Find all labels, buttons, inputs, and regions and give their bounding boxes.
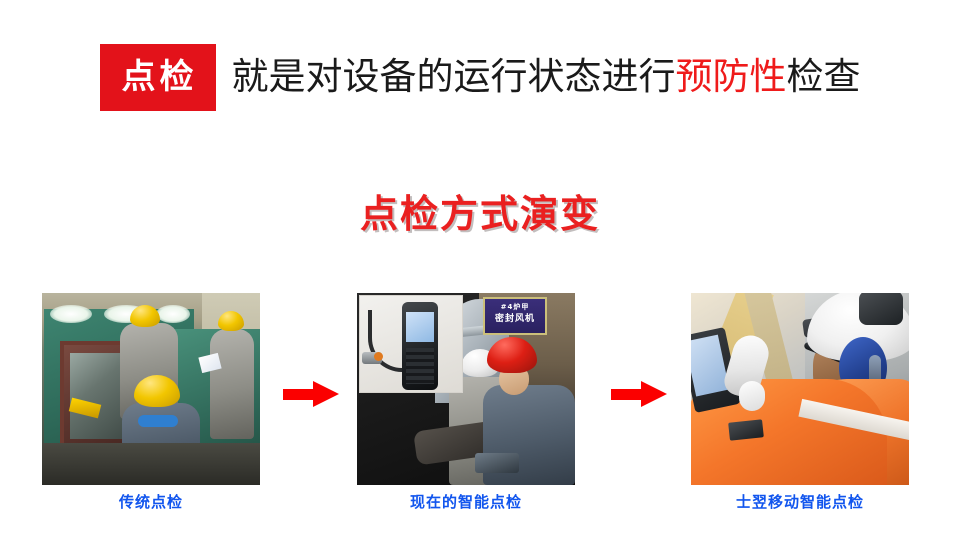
flow-step-2: #4炉甲 密封风机 bbox=[357, 293, 575, 485]
arrow2-shaft bbox=[611, 389, 644, 400]
photo1-lamp-left bbox=[50, 305, 92, 323]
photo1-lamp-right bbox=[156, 305, 190, 323]
arrow1-shaft bbox=[283, 389, 316, 400]
section-subtitle: 点检方式演变 bbox=[0, 193, 960, 237]
photo3-helmet-mount bbox=[859, 293, 903, 325]
arrow-right-icon-2 bbox=[611, 381, 667, 407]
photo3-tablet-screen bbox=[691, 335, 729, 397]
headline-text-before: 就是对设备的运行状态进行 bbox=[232, 55, 676, 98]
photo2-sign-line-2: 密封风机 bbox=[485, 313, 545, 327]
flow-step-1: 传统点检 bbox=[42, 293, 260, 485]
photo2-pda-inset bbox=[359, 295, 463, 393]
photo3-white-glove-second bbox=[739, 381, 765, 411]
photo-pda-inspection: #4炉甲 密封风机 bbox=[357, 293, 575, 485]
photo-mobile-smart-inspection bbox=[691, 293, 909, 485]
caption-step-3: 士翌移动智能点检 bbox=[691, 491, 909, 512]
photo3-chest-badge bbox=[728, 419, 764, 440]
photo2-sign-line-1: #4炉甲 bbox=[485, 302, 545, 313]
photo2-pda-keypad bbox=[406, 348, 434, 384]
photo2-pda-device bbox=[402, 302, 438, 390]
headline-badge: 点检 bbox=[100, 44, 216, 111]
photo1-worker2-collar bbox=[138, 415, 178, 427]
arrow2-head bbox=[641, 381, 667, 407]
caption-step-2: 现在的智能点检 bbox=[357, 491, 575, 512]
flow-step-3: 士翌移动智能点检 bbox=[691, 293, 909, 485]
photo1-worker3-yellow-helmet-icon bbox=[218, 311, 244, 331]
page-title: 就是对设备的运行状态进行预防性检查 bbox=[232, 57, 861, 98]
headline-text-accent: 预防性 bbox=[676, 55, 787, 98]
slide-root: 点检 就是对设备的运行状态进行预防性检查 点检方式演变 bbox=[0, 0, 960, 533]
photo2-equipment-sign: #4炉甲 密封风机 bbox=[483, 297, 547, 335]
photo-traditional-inspection bbox=[42, 293, 260, 485]
caption-step-1: 传统点检 bbox=[42, 491, 260, 512]
photo2-pda-navpad bbox=[374, 352, 383, 361]
headline: 点检 就是对设备的运行状态进行预防性检查 bbox=[0, 44, 960, 111]
evolution-flow: 传统点检 #4炉甲 密封风机 bbox=[0, 293, 960, 493]
headline-text-after: 检查 bbox=[787, 55, 861, 98]
photo1-floor bbox=[42, 443, 260, 485]
photo2-handheld-terminal bbox=[475, 453, 519, 473]
arrow-right-icon-1 bbox=[283, 381, 339, 407]
photo1-worker3-body bbox=[210, 329, 254, 439]
photo2-pda-screen bbox=[406, 312, 434, 342]
photo1-worker1-yellow-helmet-icon bbox=[130, 305, 160, 327]
arrow1-head bbox=[313, 381, 339, 407]
